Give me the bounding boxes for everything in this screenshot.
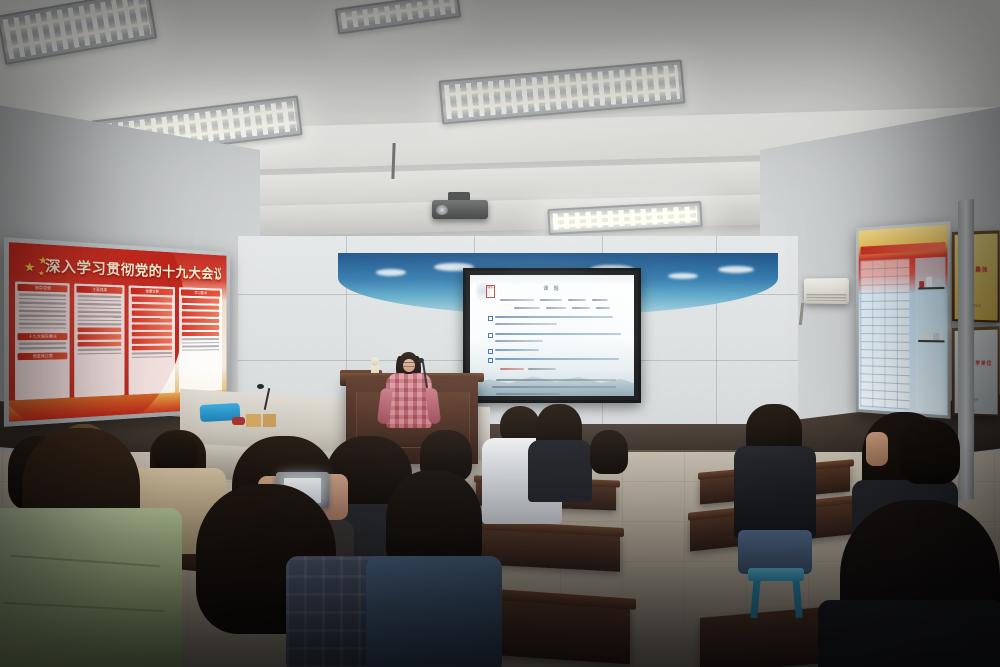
banner-sub-header: 十九大报告要点 bbox=[18, 334, 68, 341]
audience-member-mint-puffer bbox=[0, 508, 182, 667]
cardboard-box-2 bbox=[263, 414, 276, 427]
audience-member-denim bbox=[366, 556, 502, 667]
slide-title: 课 题 bbox=[470, 285, 634, 292]
audience-member-far-right-top bbox=[900, 420, 960, 484]
banner-column: 主要成果 bbox=[74, 283, 124, 397]
blue-plastic-stool bbox=[748, 568, 804, 581]
banner-columns: 指导思想 十九大报告要点 党章修正案 主要成果 重要论断 bbox=[15, 281, 222, 400]
star-icon: ★ bbox=[24, 259, 36, 275]
lecture-hall-photo: blue sky and sea mural backdrop beige ce… bbox=[0, 0, 1000, 667]
microphone-head-icon bbox=[418, 358, 424, 363]
air-conditioner bbox=[804, 278, 849, 304]
banner-column-header: 指导思想 bbox=[18, 284, 68, 292]
audience-member-right-stool bbox=[734, 446, 816, 538]
anatomy-model-head bbox=[371, 357, 379, 366]
banner-column: 重要论断 bbox=[129, 285, 175, 394]
eyeglasses-icon bbox=[403, 362, 415, 367]
audience-member-row2-c bbox=[590, 430, 628, 474]
audience-raised-hand bbox=[866, 432, 888, 466]
star-icon: ★ bbox=[38, 269, 44, 277]
projector-lens-icon bbox=[436, 205, 448, 215]
wall-corner-trim bbox=[958, 199, 974, 501]
banner-column-header: 学习要求 bbox=[181, 289, 220, 296]
audience-torso bbox=[528, 440, 592, 502]
projection-screen: 课件 课 题 bbox=[463, 268, 641, 403]
cardboard-box-1 bbox=[246, 414, 261, 427]
banner-column: 指导思想 十九大报告要点 党章修正案 bbox=[15, 281, 70, 400]
banner-sub-header: 党章修正案 bbox=[18, 352, 68, 360]
info-board-label: wall information board with schedule gri… bbox=[859, 231, 860, 232]
banner-column-header: 主要成果 bbox=[76, 286, 122, 294]
banner-column: 学习要求 bbox=[179, 287, 222, 392]
red-object bbox=[232, 417, 245, 425]
banner-column-header: 重要论断 bbox=[131, 288, 173, 296]
department-info-board: wall information board with schedule gri… bbox=[856, 221, 951, 419]
audience-torso bbox=[818, 600, 1000, 667]
microphone-head-icon bbox=[257, 384, 264, 389]
